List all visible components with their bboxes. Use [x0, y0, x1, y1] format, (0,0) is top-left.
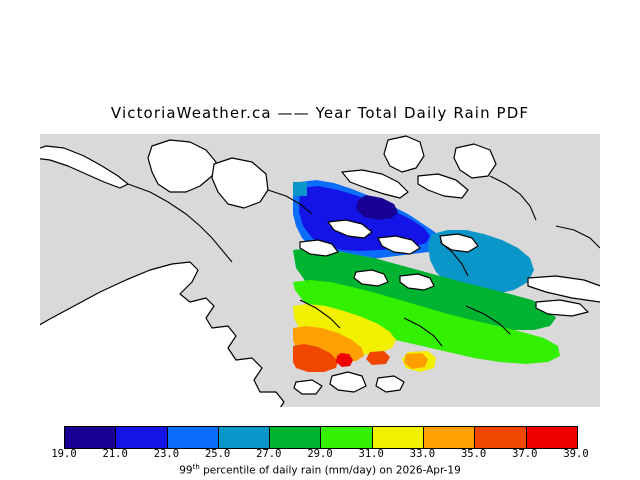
colorbar-segment-27-29	[270, 427, 321, 448]
colorbar-segment-33-35	[424, 427, 475, 448]
colorbar-tick-29.0: 29.0	[307, 448, 332, 460]
colorbar-tick-31.0: 31.0	[359, 448, 384, 460]
caption-superscript: th	[193, 463, 200, 471]
colorbar-segment-25-27	[219, 427, 270, 448]
caption-prefix: 99	[179, 465, 192, 477]
colorbar-caption: 99th percentile of daily rain (mm/day) o…	[0, 463, 640, 477]
map-svg	[0, 130, 640, 415]
screenshot-root: VictoriaWeather.ca —— Year Total Daily R…	[0, 0, 640, 480]
colorbar-tick-33.0: 33.0	[410, 448, 435, 460]
colorbar: 19.021.023.025.027.029.031.033.035.037.0…	[0, 418, 640, 480]
colorbar-tick-23.0: 23.0	[154, 448, 179, 460]
colorbar-segment-23-25	[168, 427, 219, 448]
colorbar-tick-labels: 19.021.023.025.027.029.031.033.035.037.0…	[0, 448, 640, 464]
map-canvas	[0, 130, 640, 415]
colorbar-tick-35.0: 35.0	[461, 448, 486, 460]
colorbar-segment-35-37	[475, 427, 526, 448]
colorbar-tick-39.0: 39.0	[563, 448, 588, 460]
colorbar-tick-37.0: 37.0	[512, 448, 537, 460]
colorbar-segment-29-31	[321, 427, 372, 448]
colorbar-tick-25.0: 25.0	[205, 448, 230, 460]
page-title: VictoriaWeather.ca —— Year Total Daily R…	[0, 104, 640, 122]
colorbar-segment-19-21	[65, 427, 116, 448]
colorbar-segment-21-23	[116, 427, 167, 448]
colorbar-tick-19.0: 19.0	[51, 448, 76, 460]
colorbar-tick-27.0: 27.0	[256, 448, 281, 460]
contour-teal-notch	[293, 182, 307, 196]
caption-rest: percentile of daily rain (mm/day) on 202…	[200, 465, 461, 477]
colorbar-segment-37-39	[527, 427, 577, 448]
colorbar-scale	[64, 426, 578, 449]
colorbar-segment-31-33	[373, 427, 424, 448]
colorbar-tick-21.0: 21.0	[103, 448, 128, 460]
